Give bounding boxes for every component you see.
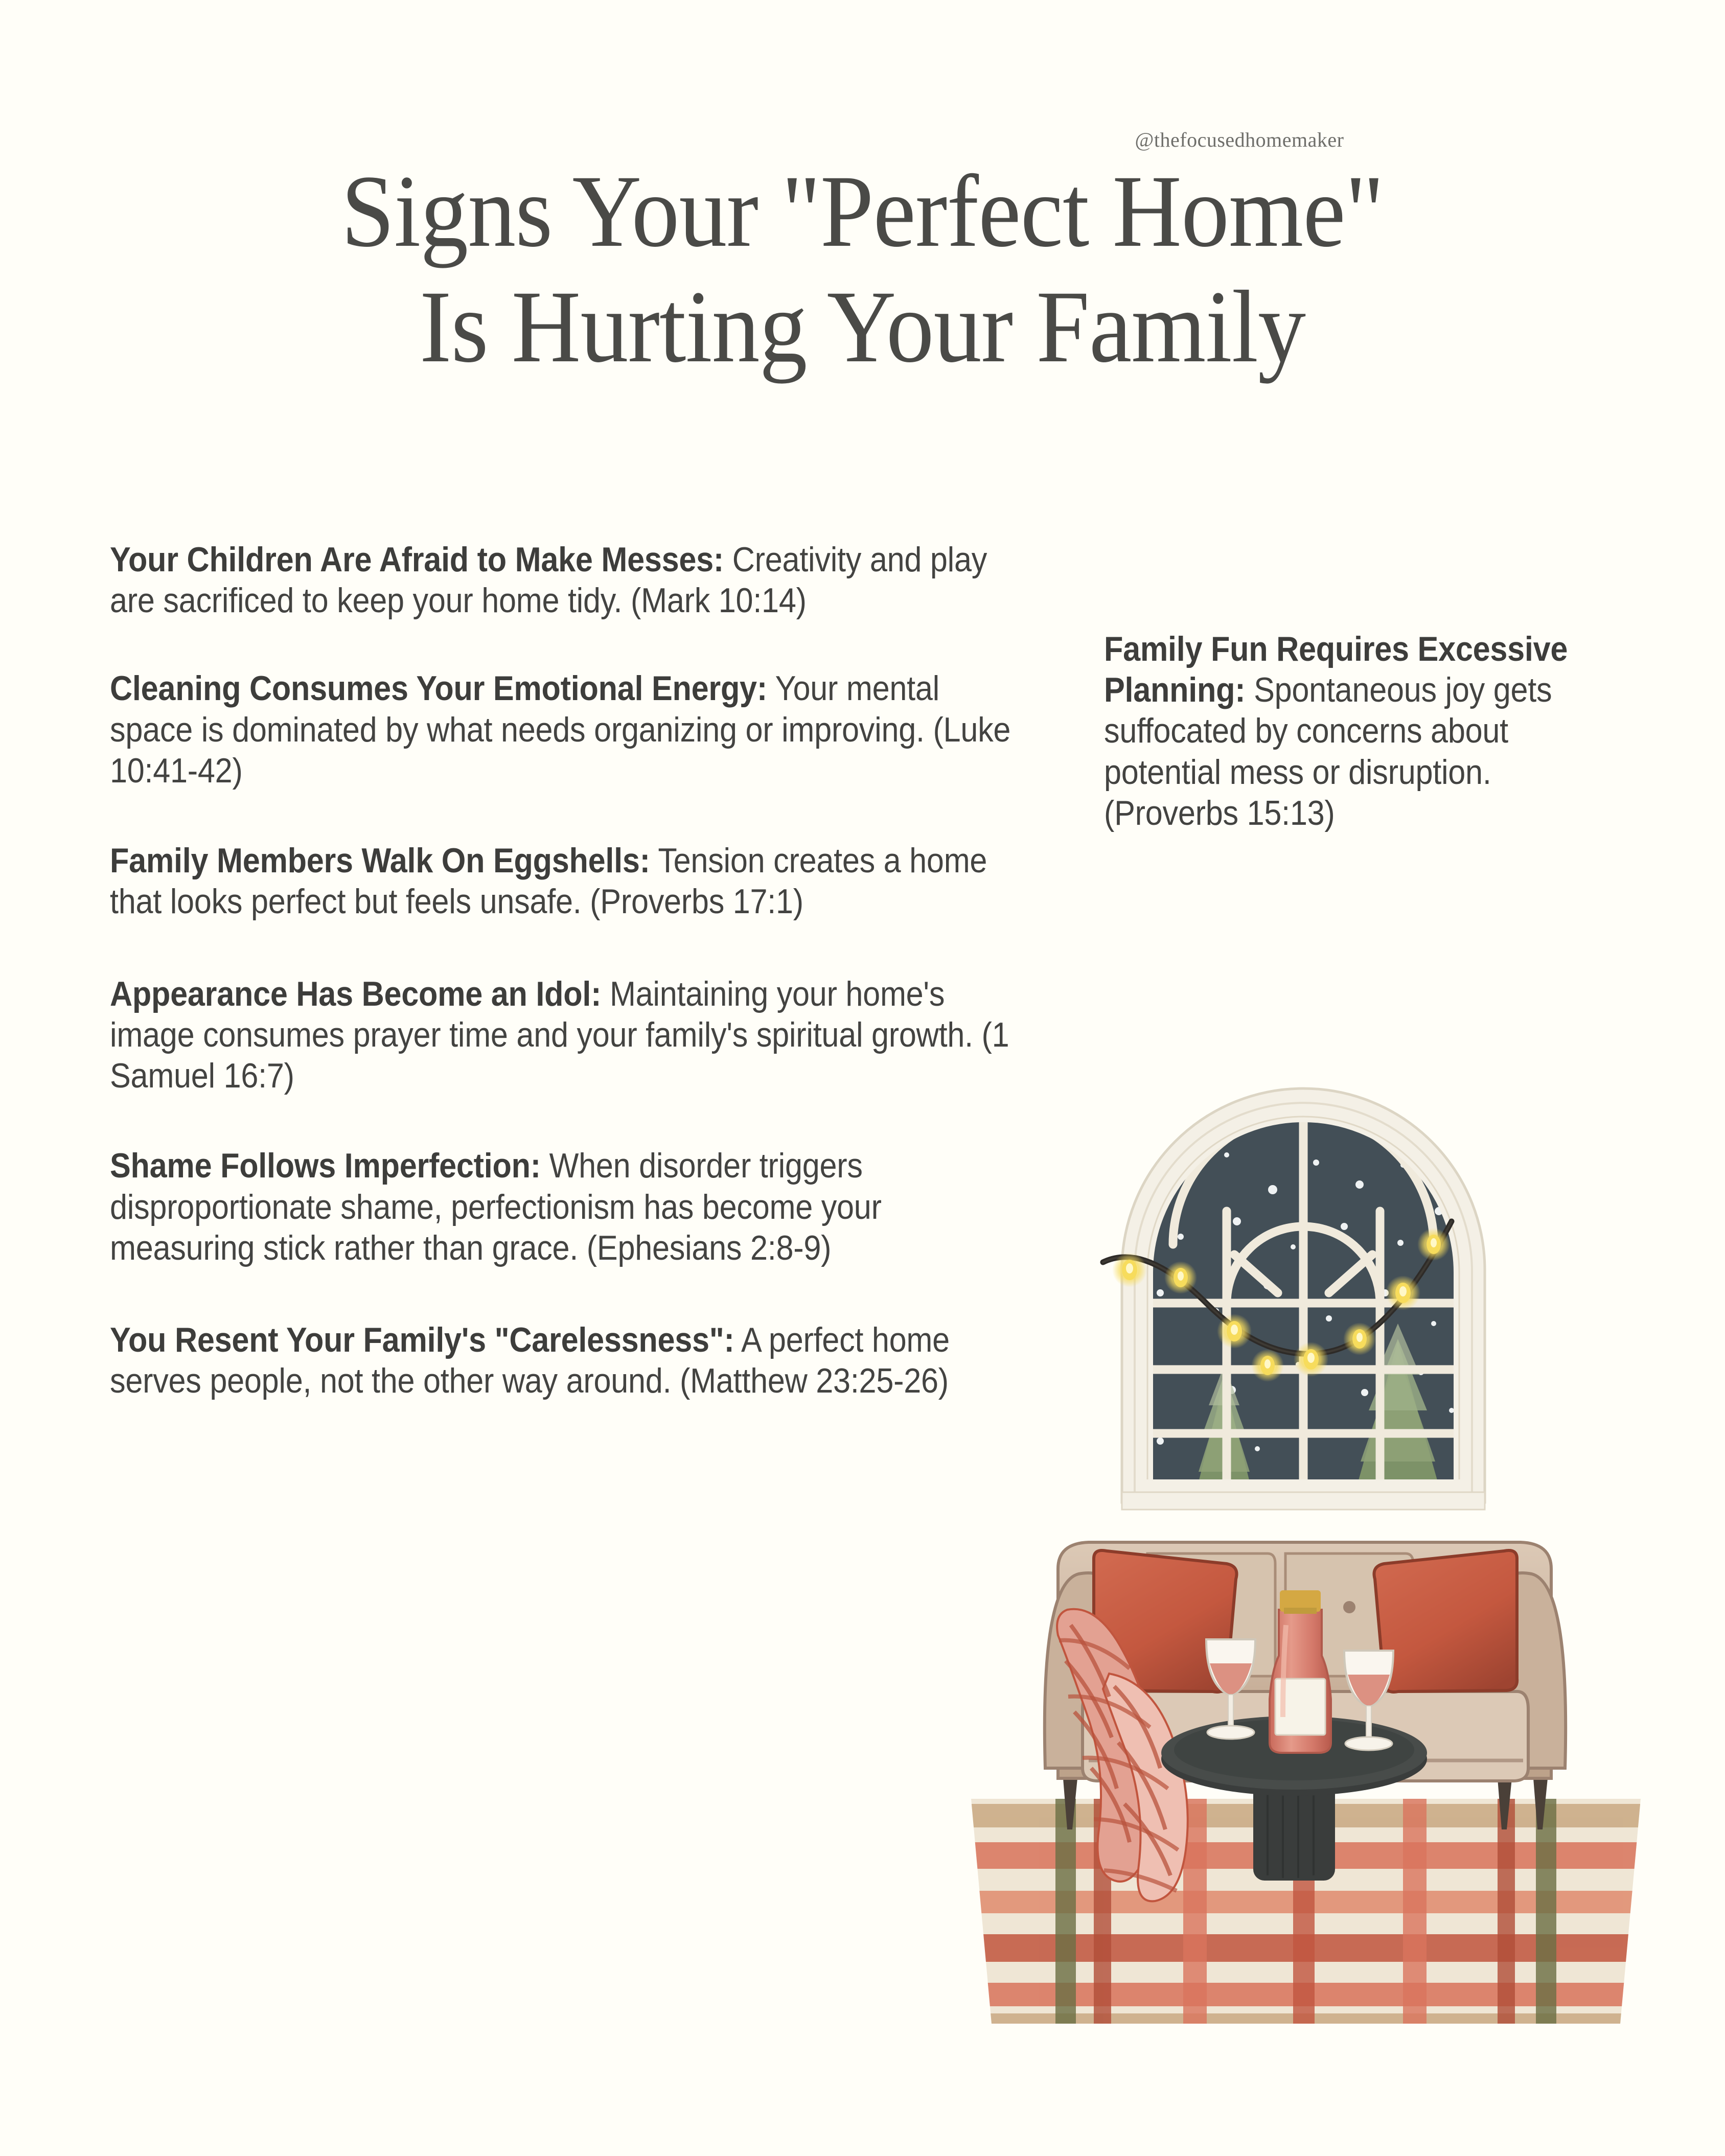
left-text-column: Your Children Are Afraid to Make Messes:… (110, 539, 1030, 1402)
title-line-2: Is Hurting Your Family (60, 269, 1665, 384)
poster-canvas: Signs Your "Perfect Home" Is Hurting You… (0, 0, 1725, 2156)
item-heading: Appearance Has Become an Idol: (110, 975, 601, 1013)
list-item-family-fun-planning: Family Fun Requires Excessive Planning: … (1104, 629, 1615, 833)
item-heading: Family Members Walk On Eggshells: (110, 841, 650, 880)
right-text-column: Family Fun Requires Excessive Planning: … (1104, 629, 1615, 833)
cozy-winter-living-room-illustration (940, 1053, 1666, 2085)
social-handle: @thefocusedhomemaker (1061, 128, 1418, 152)
item-heading: Shame Follows Imperfection: (110, 1146, 541, 1185)
list-item-shame-follows-imperfection: Shame Follows Imperfection: When disorde… (110, 1145, 1030, 1268)
item-heading: You Resent Your Family's "Carelessness": (110, 1320, 734, 1359)
list-item-cleaning-consumes-energy: Cleaning Consumes Your Emotional Energy:… (110, 668, 1030, 791)
list-item-walk-on-eggshells: Family Members Walk On Eggshells: Tensio… (110, 840, 1030, 922)
page-title: Signs Your "Perfect Home" Is Hurting You… (0, 153, 1725, 384)
arched-window (1122, 1088, 1485, 1513)
item-heading: Your Children Are Afraid to Make Messes: (110, 540, 724, 579)
list-item-children-afraid-messes: Your Children Are Afraid to Make Messes:… (110, 539, 1030, 621)
list-item-resent-carelessness: You Resent Your Family's "Carelessness":… (110, 1319, 1030, 1401)
pillow-right (1374, 1550, 1517, 1692)
item-heading: Cleaning Consumes Your Emotional Energy: (110, 669, 767, 708)
rose-wine-bottle (1270, 1590, 1331, 1753)
list-item-appearance-is-idol: Appearance Has Become an Idol: Maintaini… (110, 973, 1030, 1097)
title-line-1: Signs Your "Perfect Home" (60, 153, 1665, 269)
